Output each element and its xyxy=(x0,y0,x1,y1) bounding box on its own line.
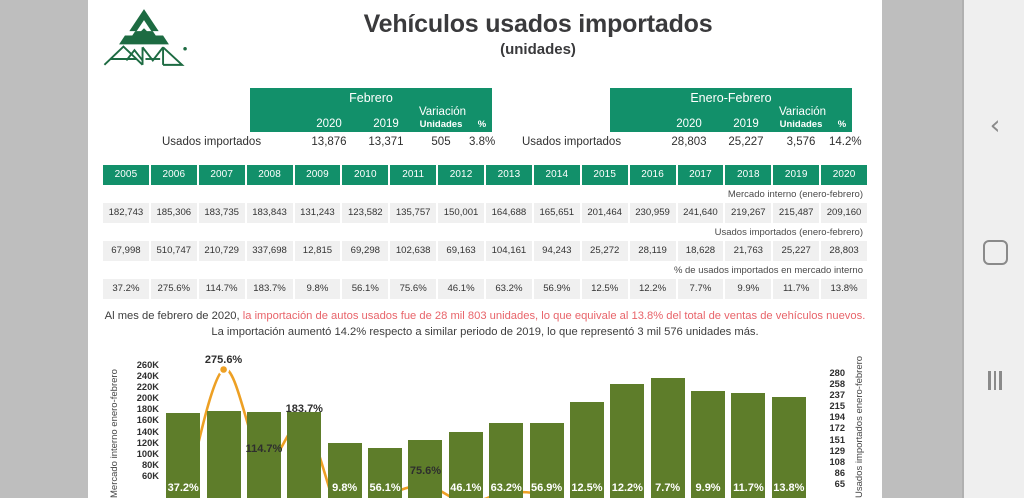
table-cell: 182,743 xyxy=(103,203,149,223)
data-label: 13.8% xyxy=(755,482,823,494)
right-axis-title: Usados importados enero-febrero xyxy=(854,356,865,498)
summary-paragraph: Al mes de febrero de 2020, la importació… xyxy=(103,308,867,340)
summary-col-pct: % xyxy=(829,119,855,130)
table-cell: 230,959 xyxy=(630,203,676,223)
screen: Vehículos usados importados (unidades) F… xyxy=(0,0,1024,498)
table-cell: 165,651 xyxy=(534,203,580,223)
back-chevron-glyph: ‹ xyxy=(990,112,1001,139)
table-row: Usados importados 13,876 13,371 505 3.8% xyxy=(162,132,492,152)
table-cell: 63.2% xyxy=(486,279,532,299)
table-cell: 201,464 xyxy=(582,203,628,223)
year-header-cell: 2005 xyxy=(103,165,149,185)
summary-value-units: 505 xyxy=(413,132,469,152)
section-label-porcentaje: % de usados importados en mercado intern… xyxy=(103,261,867,279)
table-cell: 12,815 xyxy=(295,241,341,261)
table-cell: 56.1% xyxy=(342,279,388,299)
axis-tick-label: 151 xyxy=(815,435,845,446)
summary-period-label: Enero-Febrero xyxy=(610,91,852,105)
table-cell: 9.8% xyxy=(295,279,341,299)
year-header-cell: 2017 xyxy=(678,165,724,185)
data-label: 56.1% xyxy=(351,482,419,494)
table-cell: 135,757 xyxy=(390,203,436,223)
table-row: Usados importados 28,803 25,227 3,576 14… xyxy=(522,132,852,152)
year-header-cell: 2018 xyxy=(725,165,771,185)
table-cell: 131,243 xyxy=(295,203,341,223)
axis-tick-label: 220K xyxy=(125,382,159,393)
table-cell: 9.9% xyxy=(725,279,771,299)
year-header-cell: 2013 xyxy=(486,165,532,185)
summary-value-2019: 25,227 xyxy=(720,132,772,152)
table-cell: 183.7% xyxy=(247,279,293,299)
table-cell: 69,163 xyxy=(438,241,484,261)
home-square-glyph xyxy=(983,240,1008,265)
summary-col-units: Unidades xyxy=(773,119,829,130)
summary-header: Febrero Variación 2020 2019 Unidades % xyxy=(250,88,492,132)
axis-tick-label: 200K xyxy=(125,393,159,404)
bar xyxy=(247,412,281,498)
axis-tick-label: 100K xyxy=(125,449,159,460)
table-cell: 28,119 xyxy=(630,241,676,261)
bar xyxy=(610,384,644,498)
summary-row-label: Usados importados xyxy=(162,132,261,152)
table-cell: 215,487 xyxy=(773,203,819,223)
axis-tick-label: 172 xyxy=(815,423,845,434)
table-cell: 25,227 xyxy=(773,241,819,261)
year-header-cell: 2016 xyxy=(630,165,676,185)
summary-header: Enero-Febrero Variación 2020 2019 Unidad… xyxy=(610,88,852,132)
year-data-table: 2005200620072008200920102011201220132014… xyxy=(103,165,867,299)
table-cell: 56.9% xyxy=(534,279,580,299)
table-row: 37.2%275.6%114.7%183.7%9.8%56.1%75.6%46.… xyxy=(103,279,867,299)
summary-col-2020: 2020 xyxy=(662,118,716,130)
axis-tick-label: 240K xyxy=(125,371,159,382)
axis-tick-label: 80K xyxy=(125,460,159,471)
axis-tick-label: 86 xyxy=(815,468,845,479)
table-cell: 210,729 xyxy=(199,241,245,261)
table-cell: 94,243 xyxy=(534,241,580,261)
table-cell: 69,298 xyxy=(342,241,388,261)
table-cell: 21,763 xyxy=(725,241,771,261)
table-cell: 123,582 xyxy=(342,203,388,223)
axis-tick-label: 140K xyxy=(125,427,159,438)
axis-tick-label: 194 xyxy=(815,412,845,423)
axis-tick-label: 258 xyxy=(815,379,845,390)
axis-tick-label: 280 xyxy=(815,368,845,379)
table-cell: 183,735 xyxy=(199,203,245,223)
year-header-cell: 2020 xyxy=(821,165,867,185)
bar xyxy=(651,378,685,498)
table-cell: 164,688 xyxy=(486,203,532,223)
axis-tick-label: 237 xyxy=(815,390,845,401)
right-axis-ticks: 2802582372151941721511291088665 xyxy=(815,368,845,490)
table-cell: 28,803 xyxy=(821,241,867,261)
table-cell: 37.2% xyxy=(103,279,149,299)
table-cell: 185,306 xyxy=(151,203,197,223)
summary-value-pct: 14.2% xyxy=(829,132,855,152)
table-cell: 46.1% xyxy=(438,279,484,299)
year-header-cell: 2009 xyxy=(295,165,341,185)
axis-tick-label: 215 xyxy=(815,401,845,412)
year-header-cell: 2019 xyxy=(773,165,819,185)
data-label: 37.2% xyxy=(149,482,217,494)
document-header: Vehículos usados importados (unidades) xyxy=(88,0,882,80)
summary-table-febrero: Febrero Variación 2020 2019 Unidades % U… xyxy=(162,88,492,152)
summary-value-2020: 28,803 xyxy=(662,132,716,152)
summary-col-units: Unidades xyxy=(413,119,469,130)
table-row: 182,743185,306183,735183,843131,243123,5… xyxy=(103,203,867,223)
table-cell: 13.8% xyxy=(821,279,867,299)
android-navigation-bar: ‹ xyxy=(962,0,1024,498)
axis-tick-label: 260K xyxy=(125,360,159,371)
axis-tick-label: 120K xyxy=(125,438,159,449)
year-header-cell: 2010 xyxy=(342,165,388,185)
home-icon[interactable] xyxy=(964,232,1024,272)
summary-value-2020: 13,876 xyxy=(302,132,356,152)
table-cell: 114.7% xyxy=(199,279,245,299)
data-label: 183.7% xyxy=(270,403,338,415)
summary-col-2020: 2020 xyxy=(302,118,356,130)
year-header-cell: 2007 xyxy=(199,165,245,185)
table-cell: 12.5% xyxy=(582,279,628,299)
page-subtitle: (unidades) xyxy=(208,41,868,58)
summary-variation-label: Variación xyxy=(750,106,855,118)
left-axis-title: Mercado interno enero-febrero xyxy=(109,352,120,498)
table-row: 67,998510,747210,729337,69812,81569,2981… xyxy=(103,241,867,261)
data-label: 275.6% xyxy=(190,354,258,366)
back-icon[interactable]: ‹ xyxy=(964,105,1024,145)
data-point xyxy=(219,365,228,374)
summary-col-2019: 2019 xyxy=(720,118,772,130)
axis-tick-label: 129 xyxy=(815,446,845,457)
document-page: Vehículos usados importados (unidades) F… xyxy=(88,0,882,498)
summary-value-units: 3,576 xyxy=(773,132,829,152)
paragraph-highlight: la importación de autos usados fue de 28… xyxy=(243,310,866,322)
section-label-usados-importados: Usados importados (enero-febrero) xyxy=(103,223,867,241)
table-cell: 75.6% xyxy=(390,279,436,299)
recents-bars-glyph xyxy=(988,371,1002,390)
summary-col-2019: 2019 xyxy=(360,118,412,130)
table-cell: 150,001 xyxy=(438,203,484,223)
amda-logo-icon xyxy=(100,6,188,68)
table-cell: 102,638 xyxy=(390,241,436,261)
paragraph-part-1: Al mes de febrero de 2020, xyxy=(105,310,243,322)
axis-tick-label: 60K xyxy=(125,471,159,482)
table-cell: 25,272 xyxy=(582,241,628,261)
table-cell: 275.6% xyxy=(151,279,197,299)
table-cell: 183,843 xyxy=(247,203,293,223)
page-title: Vehículos usados importados xyxy=(208,10,868,39)
table-cell: 104,161 xyxy=(486,241,532,261)
summary-period-label: Febrero xyxy=(250,91,492,105)
data-label: 75.6% xyxy=(391,465,459,477)
axis-tick-label: 108 xyxy=(815,457,845,468)
axis-tick-label: 180K xyxy=(125,404,159,415)
summary-col-pct: % xyxy=(469,119,495,130)
table-cell: 337,698 xyxy=(247,241,293,261)
left-axis-ticks: 260K240K220K200K180K160K140K120K100K80K6… xyxy=(125,360,159,482)
recents-icon[interactable] xyxy=(964,360,1024,400)
summary-row-label: Usados importados xyxy=(522,132,621,152)
year-header-cell: 2011 xyxy=(390,165,436,185)
year-header-cell: 2012 xyxy=(438,165,484,185)
year-header-cell: 2008 xyxy=(247,165,293,185)
table-cell: 11.7% xyxy=(773,279,819,299)
year-header-cell: 2014 xyxy=(534,165,580,185)
summary-value-2019: 13,371 xyxy=(360,132,412,152)
table-cell: 67,998 xyxy=(103,241,149,261)
summary-value-pct: 3.8% xyxy=(469,132,495,152)
table-header-row: 2005200620072008200920102011201220132014… xyxy=(103,165,867,185)
section-label-mercado-interno: Mercado interno (enero-febrero) xyxy=(103,185,867,203)
summary-variation-label: Variación xyxy=(390,106,495,118)
year-header-cell: 2006 xyxy=(151,165,197,185)
data-label: 114.7% xyxy=(230,443,298,455)
axis-tick-label: 160K xyxy=(125,415,159,426)
table-cell: 209,160 xyxy=(821,203,867,223)
combo-chart: Mercado interno enero-febrero Usados imp… xyxy=(103,352,867,498)
table-cell: 510,747 xyxy=(151,241,197,261)
summary-table-enero-febrero: Enero-Febrero Variación 2020 2019 Unidad… xyxy=(522,88,852,152)
table-cell: 7.7% xyxy=(678,279,724,299)
table-cell: 219,267 xyxy=(725,203,771,223)
paragraph-part-2: La importación aumentó 14.2% respecto a … xyxy=(211,326,758,338)
plot-area: 37.2%275.6%114.7%183.7%9.8%56.1%75.6%46.… xyxy=(163,360,809,498)
year-header-cell: 2015 xyxy=(582,165,628,185)
table-cell: 12.2% xyxy=(630,279,676,299)
table-cell: 241,640 xyxy=(678,203,724,223)
table-cell: 18,628 xyxy=(678,241,724,261)
